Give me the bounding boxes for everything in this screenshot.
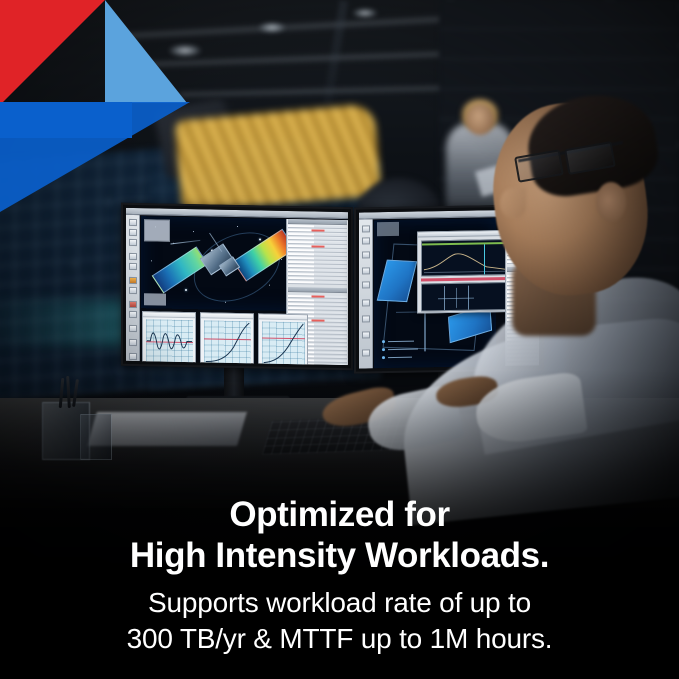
tool-icon[interactable]: [362, 349, 370, 356]
plot-oscillation[interactable]: [142, 311, 196, 365]
tool-icon[interactable]: [129, 325, 137, 332]
dialog-plot-pane-lower[interactable]: [421, 282, 509, 312]
satellite-boom: [170, 240, 200, 245]
plot-title-bar: [143, 312, 195, 318]
gold-mli-satellite-component: [174, 103, 381, 212]
plot-title-bar: [201, 313, 253, 319]
satellite-3d-viewport[interactable]: [141, 216, 307, 311]
plot-grid: [262, 321, 305, 365]
tool-icon[interactable]: [362, 237, 370, 244]
tool-icon[interactable]: [129, 287, 137, 294]
table-section-header: [288, 287, 347, 293]
tool-icon[interactable]: [362, 331, 370, 338]
table-row[interactable]: [288, 281, 347, 285]
tool-icon[interactable]: [129, 239, 137, 246]
tool-icon[interactable]: [129, 353, 137, 360]
tool-icon[interactable]: [129, 219, 137, 226]
plot-curve: [262, 321, 305, 365]
dialog-curve: [422, 240, 508, 276]
dialog-plot-pane-upper[interactable]: [421, 239, 509, 277]
left-monitor-screen[interactable]: [126, 208, 348, 365]
viewport-info-panel: [377, 222, 399, 236]
tool-icon[interactable]: [129, 339, 137, 346]
app-tool-palette[interactable]: [126, 215, 140, 361]
promotional-banner: Optimized for High Intensity Workloads. …: [0, 0, 679, 679]
tool-icon[interactable]: [129, 229, 137, 236]
background-technician-head: [466, 104, 494, 135]
dialog-title-bar[interactable]: [418, 231, 510, 238]
legend-marker: [382, 340, 385, 343]
cursor-line: [484, 244, 485, 274]
tool-icon[interactable]: [129, 263, 137, 270]
dialog-slider[interactable]: [421, 277, 509, 282]
headline-line-2: High Intensity Workloads.: [0, 535, 679, 576]
viewport-info-panel: [144, 219, 170, 241]
legend-label: [388, 349, 418, 351]
tool-icon[interactable]: [362, 225, 370, 232]
plot-grid: [146, 319, 193, 363]
pen-holder: [80, 414, 112, 460]
tool-icon[interactable]: [362, 299, 370, 306]
plot-curve: [146, 319, 193, 363]
legend-label: [388, 357, 412, 358]
plot-title-bar: [259, 314, 307, 320]
left-monitor[interactable]: [121, 203, 353, 370]
subline-line-2: 300 TB/yr & MTTF up to 1M hours.: [0, 621, 679, 657]
legend-marker: [382, 356, 385, 359]
plot-exponential[interactable]: [200, 312, 254, 365]
engineer-ear: [596, 182, 626, 222]
tool-icon[interactable]: [362, 267, 370, 274]
tool-icon[interactable]: [129, 253, 137, 260]
tool-icon[interactable]: [362, 251, 370, 258]
ceiling-light: [352, 8, 378, 18]
headline-line-1: Optimized for: [0, 494, 679, 535]
ceiling-light: [168, 44, 202, 57]
tool-icon[interactable]: [362, 281, 370, 288]
tool-icon[interactable]: [129, 301, 137, 308]
legend-marker: [382, 348, 385, 351]
viewport-axis-triad: [144, 293, 166, 305]
app-tool-palette[interactable]: [359, 219, 373, 368]
engineer-nose: [500, 188, 526, 218]
plot-ramp[interactable]: [258, 313, 308, 365]
subline-line-1: Supports workload rate of up to: [0, 585, 679, 621]
plot-curve: [204, 320, 251, 364]
ceiling-light: [258, 22, 286, 33]
analysis-dialog[interactable]: [417, 230, 511, 314]
plot-grid: [204, 320, 251, 364]
tool-icon[interactable]: [362, 315, 370, 322]
marketing-copy: Optimized for High Intensity Workloads. …: [0, 494, 679, 657]
left-monitor-stand-neck: [224, 366, 244, 400]
tool-icon[interactable]: [129, 277, 137, 284]
tool-icon[interactable]: [129, 311, 137, 318]
